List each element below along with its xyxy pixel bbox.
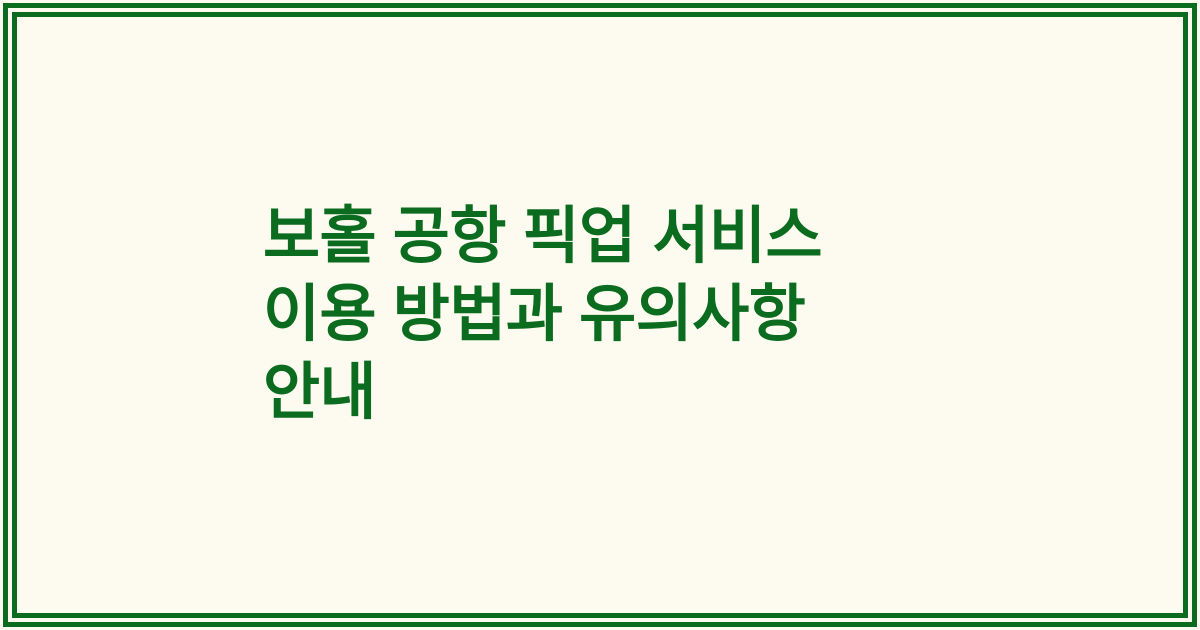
outer-border-frame: 보홀 공항 픽업 서비스 이용 방법과 유의사항 안내 xyxy=(3,3,1197,627)
page-title: 보홀 공항 픽업 서비스 이용 방법과 유의사항 안내 xyxy=(263,198,963,432)
title-block: 보홀 공항 픽업 서비스 이용 방법과 유의사항 안내 xyxy=(17,198,1183,432)
inner-border-frame: 보홀 공항 픽업 서비스 이용 방법과 유의사항 안내 xyxy=(12,12,1188,618)
thumbnail-card: 보홀 공항 픽업 서비스 이용 방법과 유의사항 안내 xyxy=(0,0,1200,630)
